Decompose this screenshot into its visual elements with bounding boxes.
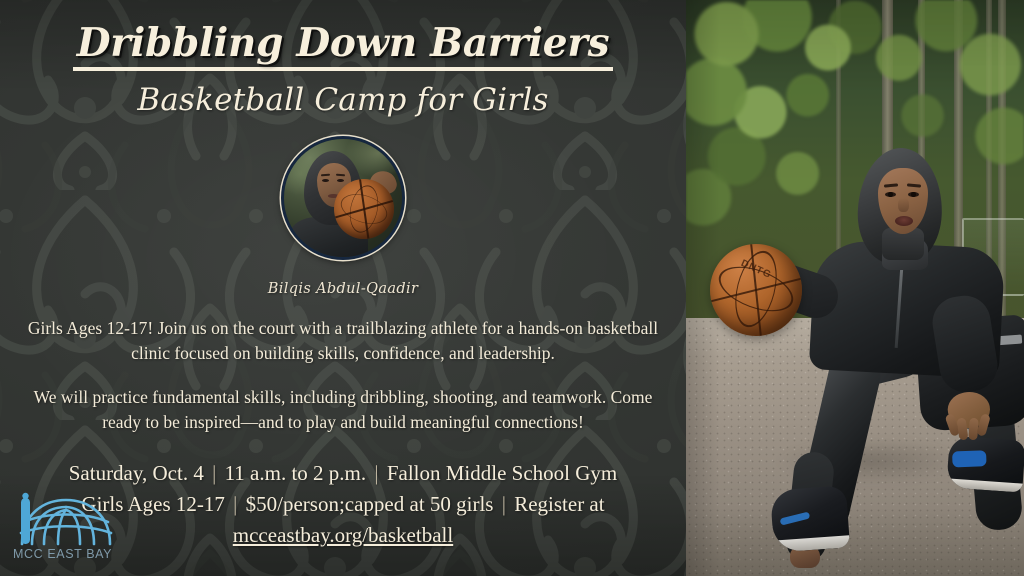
player-shoe-left: [770, 485, 850, 552]
player-iris-right: [911, 192, 916, 197]
player-nose: [898, 198, 909, 212]
event-price: $50/person;capped at 50 girls: [246, 492, 494, 516]
flyer-title: Dribbling Down Barriers: [73, 22, 613, 71]
athlete-action-photo: DNTG: [686, 0, 1024, 576]
portrait-caption: Bilqis Abdul-Qaadir: [0, 281, 686, 297]
event-venue: Fallon Middle School Gym: [387, 461, 617, 485]
mosque-dome-globe-icon: [8, 492, 120, 546]
registration-url[interactable]: mcceastbay.org/basketball: [233, 523, 453, 547]
basketball: DNTG: [710, 244, 802, 336]
details-separator: |: [230, 492, 240, 516]
portrait-block: Bilqis Abdul-Qaadir: [0, 136, 686, 297]
logo-wordmark: MCC EAST BAY: [8, 547, 120, 561]
body-copy: Girls Ages 12-17! Join us on the court w…: [0, 316, 686, 435]
flyer-canvas: Dribbling Down Barriers Basketball Camp …: [0, 0, 1024, 576]
content-panel: Dribbling Down Barriers Basketball Camp …: [0, 0, 686, 576]
player-shoe-right: [946, 435, 1024, 492]
player-mouth: [895, 216, 913, 226]
shoe-stripe: [952, 450, 987, 467]
body-paragraph-1: Girls Ages 12-17! Join us on the court w…: [0, 316, 686, 366]
register-label: Register at: [514, 492, 604, 516]
event-time: 11 a.m. to 2 p.m.: [225, 461, 367, 485]
event-date: Saturday, Oct. 4: [69, 461, 204, 485]
mcc-east-bay-logo: MCC EAST BAY: [8, 492, 120, 564]
title-block: Dribbling Down Barriers Basketball Camp …: [0, 22, 686, 118]
flyer-subtitle: Basketball Camp for Girls: [0, 82, 686, 118]
details-line-date-time-venue: Saturday, Oct. 4 | 11 a.m. to 2 p.m. | F…: [0, 458, 686, 489]
details-separator: |: [371, 461, 381, 485]
athlete-portrait-photo: [281, 136, 405, 260]
details-separator: |: [499, 492, 509, 516]
portrait-basketball: [334, 179, 394, 239]
player-iris-left: [888, 192, 893, 197]
body-paragraph-2: We will practice fundamental skills, inc…: [0, 385, 686, 435]
details-separator: |: [209, 461, 219, 485]
shoe-stripe: [780, 512, 811, 526]
